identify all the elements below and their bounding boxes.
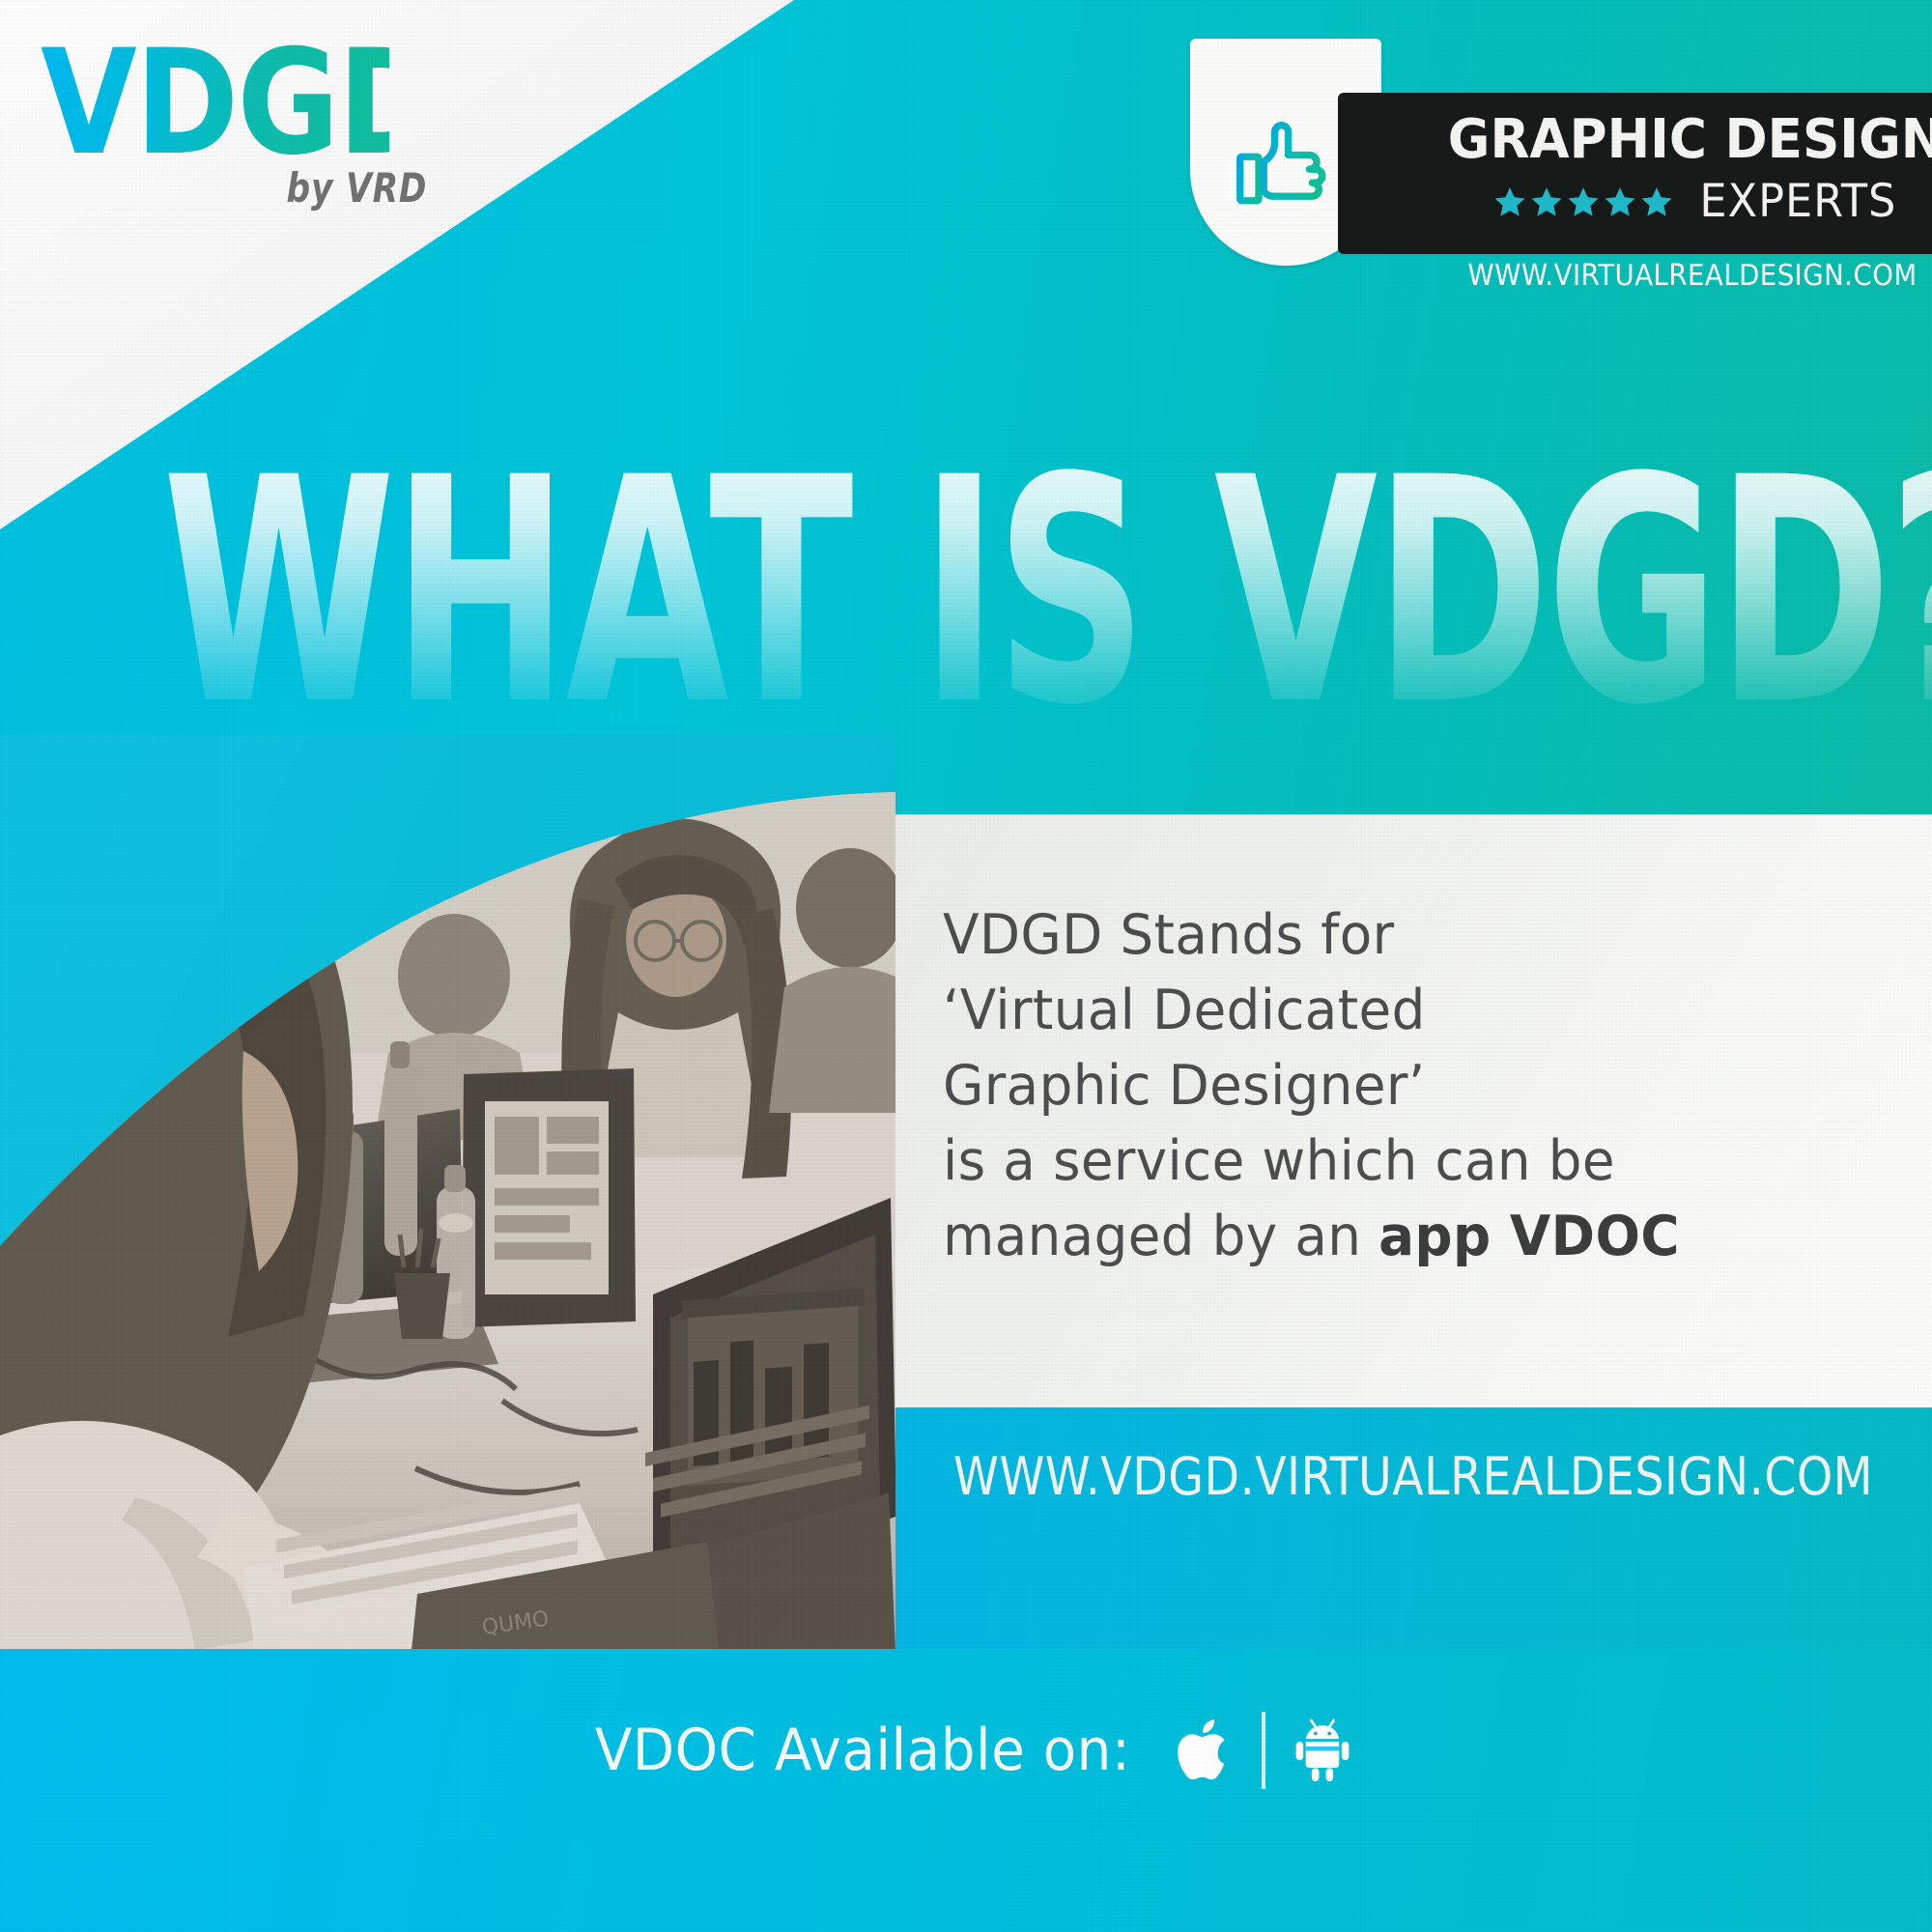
- vdgd-url-bar[interactable]: WWW.VDGD.VIRTUALREALDESIGN.COM: [895, 1407, 1932, 1651]
- star-rating: [1493, 185, 1673, 218]
- thumbs-up-icon: [1232, 111, 1340, 219]
- body-emphasis-app-vdoc: app VDOC: [1378, 1205, 1680, 1268]
- body-line-3: Graphic Designer’: [943, 1048, 1861, 1123]
- availability-label: VDOC Available on:: [595, 1717, 1131, 1784]
- apple-icon[interactable]: [1173, 1717, 1236, 1784]
- body-line-4: is a service which can be: [943, 1123, 1861, 1199]
- body-line-1: VDGD Stands for: [943, 897, 1861, 973]
- android-icon[interactable]: [1291, 1717, 1354, 1784]
- office-team-photo: QUMO: [0, 734, 895, 1650]
- availability-footer: VDOC Available on:: [0, 1712, 1932, 1789]
- photo-illustration: QUMO: [0, 734, 895, 1650]
- footer-band: VDOC Available on:: [0, 1649, 1932, 1932]
- body-line-5-prefix: managed by an: [943, 1205, 1378, 1268]
- footer-divider: [1262, 1712, 1265, 1789]
- poster-canvas: VDGD by VRD GRAPHIC DESIGN: [0, 0, 1932, 1932]
- star-icon: [1640, 185, 1673, 218]
- page-title: WHAT IS VDGD?: [162, 446, 1932, 741]
- badge-website-url[interactable]: WWW.VIRTUALREALDESIGN.COM: [1399, 259, 1932, 293]
- description-text: VDGD Stands for ‘Virtual Dedicated Graph…: [943, 897, 1861, 1274]
- brand-logo[interactable]: VDGD by VRD: [41, 37, 446, 212]
- body-line-2: ‘Virtual Dedicated: [943, 973, 1861, 1048]
- badge-dark-plate: GRAPHIC DESIGN EXPERTS: [1338, 93, 1932, 254]
- description-panel: VDGD Stands for ‘Virtual Dedicated Graph…: [895, 814, 1932, 1407]
- body-line-5: managed by an app VDOC: [943, 1199, 1861, 1274]
- badge-subtitle: EXPERTS: [1699, 175, 1896, 228]
- logo-tagline: by VRD: [114, 164, 446, 212]
- star-icon: [1493, 185, 1526, 218]
- star-icon: [1530, 185, 1563, 218]
- vdgd-url-text: WWW.VDGD.VIRTUALREALDESIGN.COM: [953, 1446, 1873, 1507]
- logo-wordmark: VDGD: [41, 37, 389, 170]
- badge-title: GRAPHIC DESIGN: [1354, 108, 1932, 171]
- star-icon: [1567, 185, 1600, 218]
- star-icon: [1604, 185, 1636, 218]
- badge-rating-row: EXPERTS: [1338, 175, 1932, 228]
